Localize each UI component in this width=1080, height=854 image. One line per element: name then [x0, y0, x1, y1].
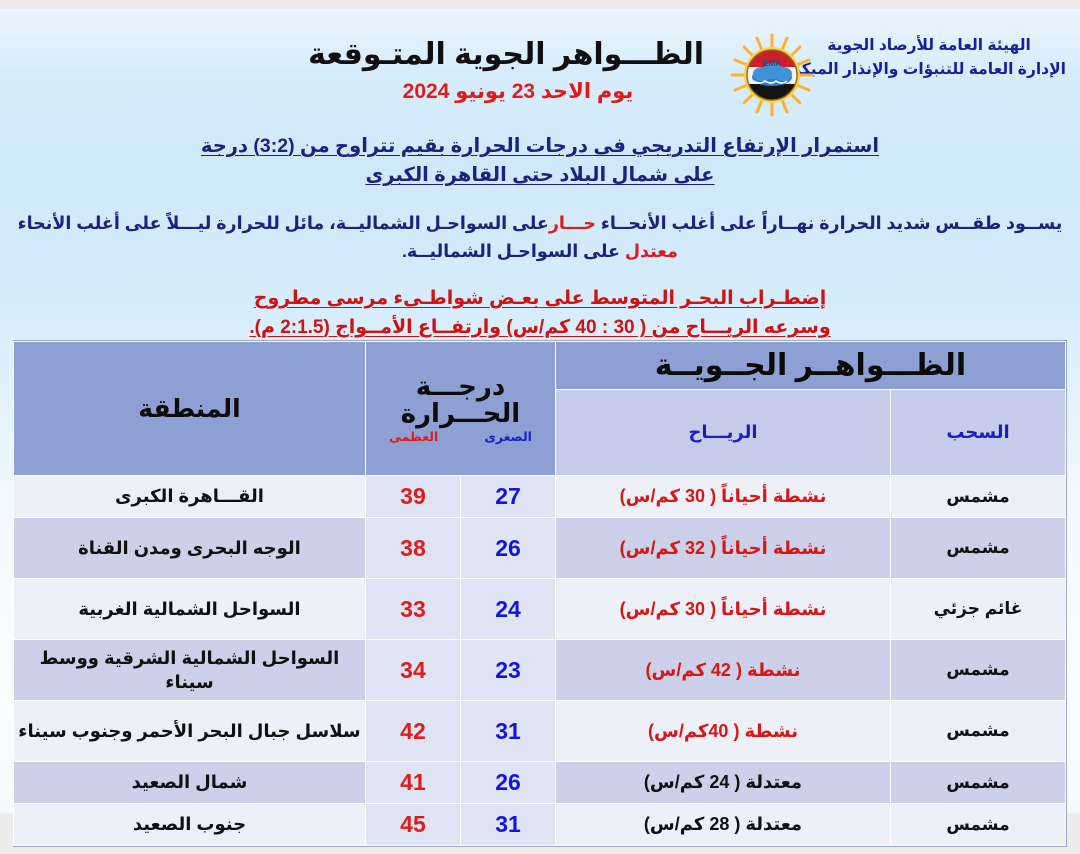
temperature-trend-paragraph: استمرار الإرتفاع التدريجي فى درجات الحرا…: [0, 132, 1080, 191]
org-department-name: الإدارة العامة للتنبؤات والإنذار المبكر: [792, 58, 1066, 82]
conditions-hot-word: حـــار: [549, 213, 596, 233]
forecast-table-container: الظـــواهــر الجــويــة درجـــة الحـــرا…: [13, 340, 1067, 847]
cell-clouds: مشمس: [891, 701, 1066, 762]
sea-state-paragraph: إضطـراب البحـر المتوسط على بعـض شواطـىء …: [0, 285, 1080, 343]
cell-wind: نشطة أحياناً ( 30 كم/س): [555, 579, 890, 640]
org-authority-name: الهيئة العامة للأرصاد الجوية: [792, 34, 1066, 58]
cell-clouds: مشمس: [891, 640, 1066, 701]
cell-temp-min: 24: [460, 579, 555, 640]
cell-region: السواحل الشمالية الشرقية ووسط سيناء: [13, 640, 365, 701]
table-row: غائم جزئينشطة أحياناً ( 30 كم/س)2433السو…: [13, 579, 1065, 640]
header-temperature: درجـــة الحـــرارة الصغرى العظمى: [365, 342, 555, 476]
cell-temp-max: 34: [365, 640, 460, 701]
header-temp-min-label: الصغرى: [484, 431, 532, 444]
cell-temp-max: 39: [365, 476, 460, 518]
sea-line-2: وسرعه الريـــاح من ( 30 : 40 كم/س) وارتف…: [249, 317, 830, 338]
header-temperature-line-2: الحـــرارة: [366, 400, 555, 427]
cell-temp-max: 42: [365, 701, 460, 762]
cell-temp-min: 23: [460, 640, 555, 701]
conditions-text-part-2: على السواحـل الشماليــة، مائل للحرارة لي…: [18, 213, 549, 233]
cell-temp-min: 31: [460, 701, 555, 762]
page-header: الهيئة العامة للأرصاد الجوية الإدارة الع…: [0, 0, 1080, 120]
header-temperature-line-1: درجـــة: [366, 373, 555, 400]
header-phenomena: الظـــواهــر الجــويــة: [555, 342, 1065, 390]
cell-wind: نشطة أحياناً ( 30 كم/س): [555, 476, 890, 518]
cell-temp-min: 27: [460, 476, 555, 518]
table-head: الظـــواهــر الجــويــة درجـــة الحـــرا…: [13, 342, 1065, 476]
table-row: مشمسنشطة أحياناً ( 32 كم/س)2638الوجه الب…: [13, 518, 1065, 579]
cell-wind: نشطة ( 40كم/س): [555, 701, 890, 762]
cell-region: شمال الصعيد: [13, 762, 365, 804]
table-row: مشمسمعتدلة ( 28 كم/س)3145جنوب الصعيد: [13, 804, 1065, 846]
table-body: مشمسنشطة أحياناً ( 30 كم/س)2739القـــاهر…: [13, 476, 1065, 846]
cell-clouds: مشمس: [891, 804, 1066, 846]
table-header-row-1: الظـــواهــر الجــويــة درجـــة الحـــرا…: [13, 342, 1065, 390]
table-row: مشمسمعتدلة ( 24 كم/س)2641شمال الصعيد: [13, 762, 1065, 804]
forecast-date: يوم الاحد 23 يونيو 2024: [332, 79, 704, 104]
cell-region: السواحل الشمالية الغربية: [13, 579, 365, 640]
conditions-moderate-word: معتدل: [625, 241, 678, 261]
cell-wind: نشطة ( 42 كم/س): [555, 640, 890, 701]
header-region: المنطقة: [13, 342, 365, 476]
cell-region: سلاسل جبال البحر الأحمر وجنوب سيناء: [13, 701, 365, 762]
cell-region: جنوب الصعيد: [13, 804, 365, 846]
header-temp-max-label: العظمى: [389, 431, 438, 444]
trend-line-1: استمرار الإرتفاع التدريجي فى درجات الحرا…: [201, 135, 879, 157]
header-temperature-sublabels: الصغرى العظمى: [366, 431, 555, 444]
table-row: مشمسنشطة ( 40كم/س)3142سلاسل جبال البحر ا…: [13, 701, 1065, 762]
cell-temp-max: 41: [365, 762, 460, 804]
table-row: مشمسنشطة ( 42 كم/س)2334السواحل الشمالية …: [13, 640, 1065, 701]
conditions-text-part-1: يســود طقــس شديد الحرارة نهــاراً على أ…: [596, 213, 1062, 233]
conditions-text-part-3: على السواحـل الشماليــة.: [402, 241, 625, 261]
forecast-page: الهيئة العامة للأرصاد الجوية الإدارة الع…: [0, 0, 1080, 854]
header-clouds: السحب: [891, 390, 1066, 476]
cell-clouds: مشمس: [891, 476, 1066, 518]
page-title: الظـــواهر الجوية المتـوقعة: [332, 38, 704, 72]
header-wind: الريـــاح: [555, 390, 890, 476]
title-block: الظـــواهر الجوية المتـوقعة يوم الاحد 23…: [332, 38, 704, 104]
table-row: مشمسنشطة أحياناً ( 30 كم/س)2739القـــاهر…: [13, 476, 1065, 518]
forecast-table: الظـــواهــر الجــويــة درجـــة الحـــرا…: [13, 341, 1066, 846]
cell-temp-min: 26: [460, 762, 555, 804]
cell-wind: معتدلة ( 24 كم/س): [555, 762, 890, 804]
cell-clouds: مشمس: [891, 518, 1066, 579]
cell-clouds: مشمس: [891, 762, 1066, 804]
cell-region: الوجه البحرى ومدن القناة: [13, 518, 365, 579]
cell-wind: نشطة أحياناً ( 32 كم/س): [555, 518, 890, 579]
ema-logo-icon: EMA: [726, 33, 818, 117]
cell-temp-min: 26: [460, 518, 555, 579]
svg-text:EMA: EMA: [763, 59, 781, 68]
organization-block: الهيئة العامة للأرصاد الجوية الإدارة الع…: [792, 34, 1066, 82]
conditions-paragraph: يســود طقــس شديد الحرارة نهــاراً على أ…: [0, 209, 1080, 266]
trend-line-2: على شمال البلاد حتى القاهرة الكبرى: [366, 164, 715, 186]
cell-region: القـــاهرة الكبرى: [13, 476, 365, 518]
cell-wind: معتدلة ( 28 كم/س): [555, 804, 890, 846]
cell-clouds: غائم جزئي: [891, 579, 1066, 640]
cell-temp-min: 31: [460, 804, 555, 846]
sea-line-1: إضطـراب البحـر المتوسط على بعـض شواطـىء …: [254, 288, 827, 309]
cell-temp-max: 33: [365, 579, 460, 640]
cell-temp-max: 45: [365, 804, 460, 846]
cell-temp-max: 38: [365, 518, 460, 579]
